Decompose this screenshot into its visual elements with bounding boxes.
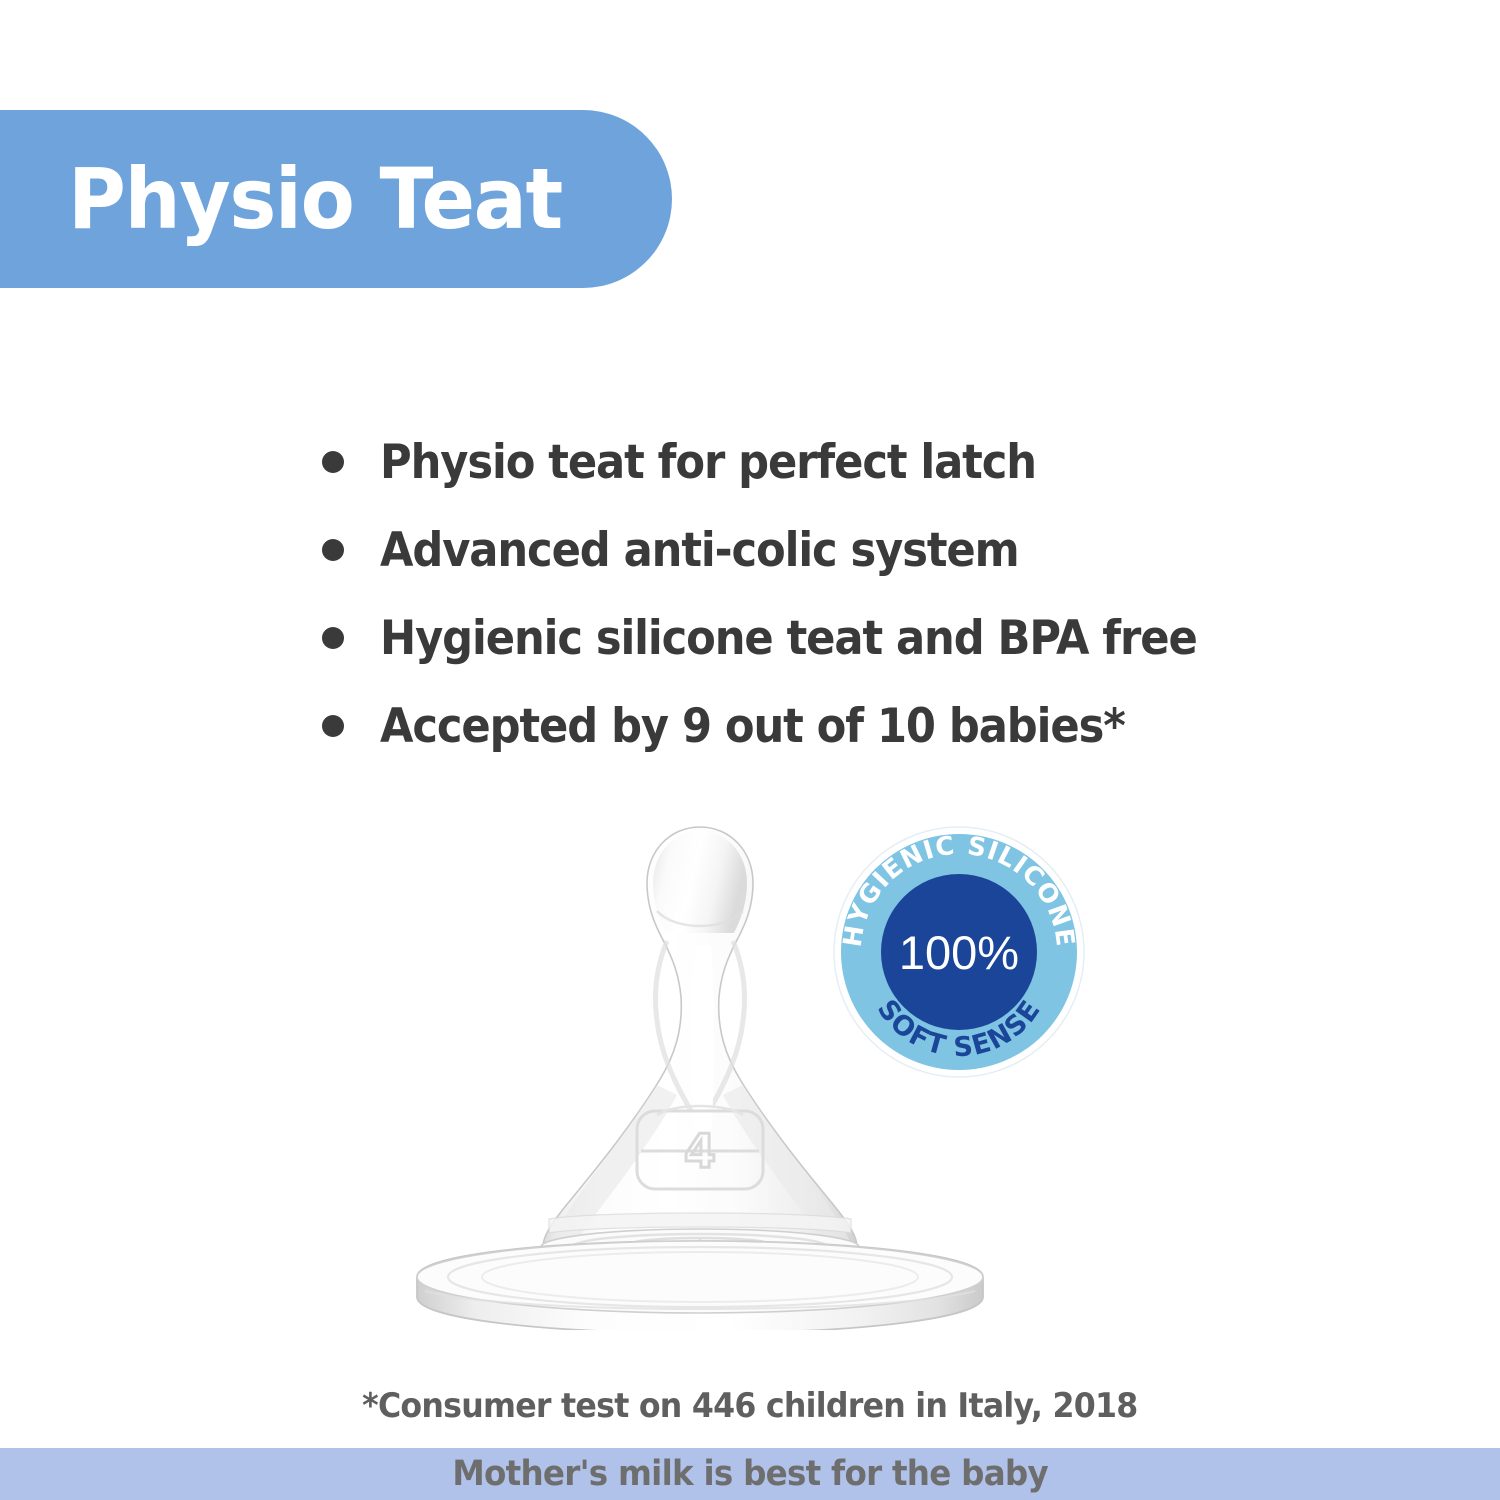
feature-label: Physio teat for perfect latch xyxy=(380,439,1036,486)
teat-center-highlight xyxy=(692,945,714,1145)
bullet-dot-icon xyxy=(322,627,344,649)
page-title: Physio Teat xyxy=(68,157,562,241)
feature-label: Advanced anti-colic system xyxy=(380,527,1019,574)
teat-emboss-number: 4 xyxy=(684,1124,716,1178)
footnote-text: *Consumer test on 446 children in Italy,… xyxy=(362,1386,1137,1426)
list-item: Advanced anti-colic system xyxy=(322,506,1442,594)
list-item: Hygienic silicone teat and BPA free xyxy=(322,594,1442,682)
feature-label: Hygienic silicone teat and BPA free xyxy=(380,615,1197,662)
bullet-dot-icon xyxy=(322,451,344,473)
product-infographic-page: Physio Teat Physio teat for perfect latc… xyxy=(0,0,1500,1500)
header-banner: Physio Teat xyxy=(0,110,672,288)
bullet-dot-icon xyxy=(322,715,344,737)
bottom-advisory-text: Mother's milk is best for the baby xyxy=(452,1454,1048,1494)
hygienic-silicone-badge: HYGIENIC SILICONE SOFT SENSE 100% xyxy=(833,826,1085,1078)
footnote: *Consumer test on 446 children in Italy,… xyxy=(0,1386,1500,1426)
feature-label: Accepted by 9 out of 10 babies* xyxy=(380,703,1125,750)
list-item: Physio teat for perfect latch xyxy=(322,418,1442,506)
bottom-advisory-bar: Mother's milk is best for the baby xyxy=(0,1448,1500,1500)
bullet-dot-icon xyxy=(322,539,344,561)
list-item: Accepted by 9 out of 10 babies* xyxy=(322,682,1442,770)
badge-svg: HYGIENIC SILICONE SOFT SENSE xyxy=(833,826,1085,1078)
feature-list: Physio teat for perfect latch Advanced a… xyxy=(322,418,1442,770)
